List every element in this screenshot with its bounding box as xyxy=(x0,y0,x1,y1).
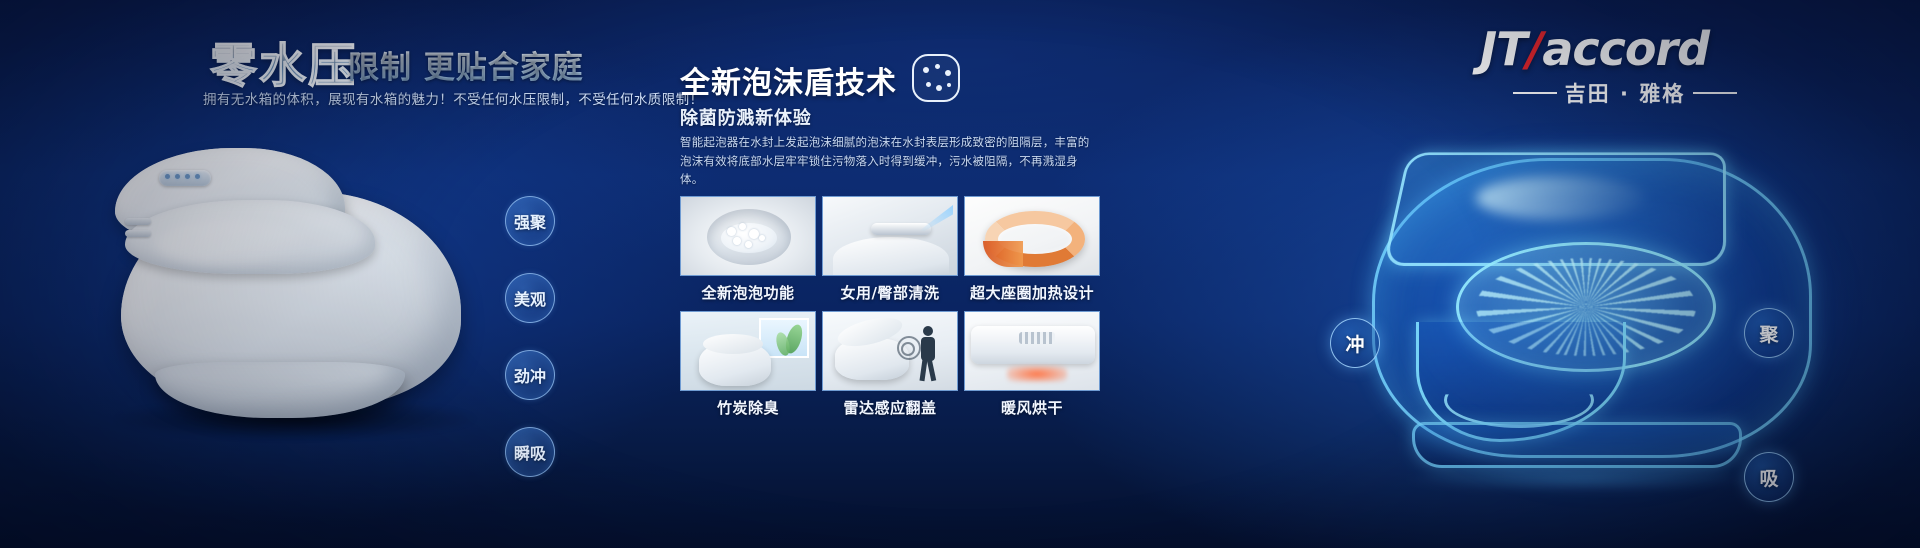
air-vent-icon xyxy=(1019,332,1055,344)
bowl-shape xyxy=(833,237,949,276)
warm-air-dryer-thumb xyxy=(964,311,1100,391)
bowl-foam-thumb xyxy=(680,196,816,276)
badge-label: 冲 xyxy=(1345,330,1364,357)
badge-label: 吸 xyxy=(1759,464,1778,491)
xray-highlight xyxy=(1476,176,1646,220)
middle-paragraph: 智能起泡器在水封上发起泡沫细腻的泡沫在水封表层形成致密的阻隔层，丰富的泡沫有效将… xyxy=(680,133,1100,189)
right-panel: JT/accord 吉田 · 雅格 冲 聚 xyxy=(1290,0,1920,548)
feature-badge-jinchong: 劲冲 xyxy=(505,350,555,400)
person-icon xyxy=(915,326,941,382)
feature-badge-qiangju: 强聚 xyxy=(505,196,555,246)
bamboo-charcoal-deodorize-thumb xyxy=(680,311,816,391)
heated-seat-ring-thumb xyxy=(964,196,1100,276)
feature-caption: 雷达感应翻盖 xyxy=(822,397,958,418)
brand-logo: JT/accord 吉田 · 雅格 xyxy=(1480,26,1770,108)
xray-base-outline xyxy=(1412,422,1742,468)
feature-cell[interactable]: 超大座圈加热设计 xyxy=(964,196,1100,303)
gather-badge: 聚 xyxy=(1744,308,1794,358)
gloss-highlight xyxy=(155,220,305,266)
left-description: 拥有无水箱的体积，展现有水箱的魅力！不受任何水压限制，不受任何水质限制！ xyxy=(203,88,703,108)
xray-shadow xyxy=(1406,466,1756,492)
page-title: 零水压 xyxy=(210,27,357,96)
toilet-lid-shape xyxy=(703,334,763,354)
logo-chinese-row: 吉田 · 雅格 xyxy=(1480,78,1770,108)
logo-suffix: accord xyxy=(1542,22,1709,76)
left-feature-badges: 强聚 美观 劲冲 瞬吸 xyxy=(505,196,555,477)
logo-wordmark: JT/accord xyxy=(1480,26,1770,72)
feature-badge-label: 瞬吸 xyxy=(514,440,546,464)
feature-cell[interactable]: 全新泡泡功能 xyxy=(680,196,816,303)
feature-badge-label: 美观 xyxy=(514,286,546,310)
feature-caption: 全新泡泡功能 xyxy=(680,282,816,303)
smart-toilet-illustration xyxy=(95,130,495,450)
feature-cell[interactable]: 暖风烘干 xyxy=(964,311,1100,418)
feature-caption: 暖风烘干 xyxy=(964,397,1100,418)
panel-indicator-dots-icon xyxy=(165,174,200,179)
radar-sensor-lid-thumb xyxy=(822,311,958,391)
middle-title: 全新泡沫盾技术 xyxy=(680,58,897,102)
feature-badge-label: 劲冲 xyxy=(514,363,546,387)
middle-panel: 全新泡沫盾技术 除菌防溅新体验 智能起泡器在水封上发起泡沫细腻的泡沫在水封表层形… xyxy=(660,0,1280,548)
left-panel: 零水压 限制 更贴合家庭 拥有无水箱的体积，展现有水箱的魅力！不受任何水压限制，… xyxy=(0,0,640,548)
feature-badge-meiguan: 美观 xyxy=(505,273,555,323)
feature-badge-label: 强聚 xyxy=(514,209,546,233)
feature-grid: 全新泡泡功能 女用/臀部清洗 超大座圈加热设计 xyxy=(680,196,1100,418)
logo-rule-right xyxy=(1693,92,1737,94)
flush-badge: 冲 xyxy=(1330,318,1380,368)
logo-prefix: JT xyxy=(1480,22,1527,76)
nozzle-wash-thumb xyxy=(822,196,958,276)
page-title-secondary: 限制 更贴合家庭 xyxy=(348,42,584,87)
feature-cell[interactable]: 女用/臀部清洗 xyxy=(822,196,958,303)
feature-caption: 竹炭除臭 xyxy=(680,397,816,418)
logo-chinese-name: 吉田 · 雅格 xyxy=(1565,78,1686,108)
suction-badge: 吸 xyxy=(1744,452,1794,502)
promo-banner: 零水压 限制 更贴合家庭 拥有无水箱的体积，展现有水箱的魅力！不受任何水压限制，… xyxy=(0,0,1920,548)
xray-toilet-cutaway: 冲 聚 吸 xyxy=(1326,122,1886,542)
logo-rule-left xyxy=(1513,92,1557,94)
logo-accent-mark: / xyxy=(1527,22,1543,76)
feature-badge-shunxi: 瞬吸 xyxy=(505,427,555,477)
side-button-lower xyxy=(125,230,151,237)
warm-air-glow xyxy=(1007,366,1067,382)
badge-label: 聚 xyxy=(1759,320,1778,347)
feature-caption: 超大座圈加热设计 xyxy=(964,282,1100,303)
feature-cell[interactable]: 雷达感应翻盖 xyxy=(822,311,958,418)
middle-subtitle: 除菌防溅新体验 xyxy=(680,104,812,130)
foam-bubbles-icon xyxy=(912,54,960,102)
feature-caption: 女用/臀部清洗 xyxy=(822,282,958,303)
feature-cell[interactable]: 竹炭除臭 xyxy=(680,311,816,418)
heat-zone-indicator xyxy=(983,241,1023,267)
side-button-upper xyxy=(125,218,151,225)
